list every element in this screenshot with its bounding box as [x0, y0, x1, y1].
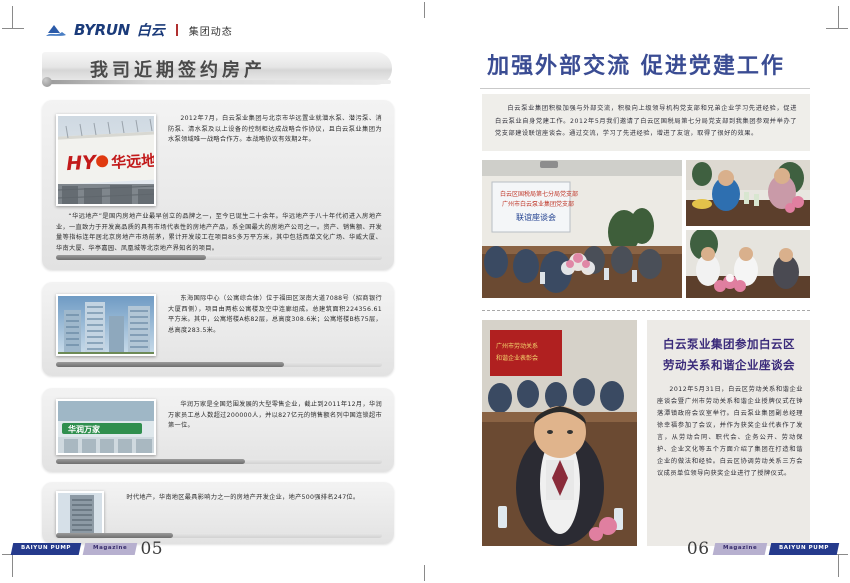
card-donghai-paragraph-1: 东海国际中心（公寓综合体）位于福田区深南大道7088号（招商银行大厦西侧），项目… [168, 294, 382, 336]
right-headline: 加强外部交流 促进党建工作 [440, 48, 832, 80]
footer-right: 06 Magazine BAIYUN PUMP [687, 539, 838, 559]
section-divider [482, 310, 810, 311]
crop-mark [838, 555, 839, 577]
right-lead-block: 白云泵业集团积极加强与外部交流，积极向上级领导机构党支部和兄弟企业学习先进经验，… [482, 94, 810, 151]
magazine-spread: BYRUN 白云 集团动态 我司近期签约房产 HY [0, 0, 850, 583]
footer-tag-secondary-right: Magazine [712, 543, 767, 555]
crop-mark [2, 28, 24, 29]
sub-body-text: 2012年5月31日，白云区劳动关系和谐企业座谈会暨广州市劳动关系和谐企业授牌仪… [657, 384, 803, 480]
card-huayuan-paragraph-1: 2012年7月，白云泵业集团与北京市华远置业就潜水泵、潜污泵、消防泵、清水泵及以… [168, 114, 382, 146]
svg-text:和谐企业表彰会: 和谐企业表彰会 [496, 354, 538, 362]
card-shidai-progress[interactable] [56, 533, 382, 538]
card-huayuan-paragraph-2: “华远地产”是国内房地产业最早创立的品牌之一，至今已诞生二十余年。华远地产于八十… [56, 212, 382, 254]
card-vanguard: 华润万家 华润万家是全国范围发展的大型零售企业，截止到2011年12月，华润万家… [42, 388, 394, 472]
section-title: 我司近期签约房产 [90, 56, 266, 82]
card-donghai: 东海国际中心（公寓综合体）位于福田区深南大道7088号（招商银行大厦西侧），项目… [42, 282, 394, 376]
photo-speaker-portrait: 广州市劳动关系 和谐企业表彰会 [482, 320, 637, 546]
card-donghai-text: 东海国际中心（公寓综合体）位于福田区深南大道7088号（招商银行大厦西侧），项目… [168, 294, 382, 336]
card-donghai-progress[interactable] [56, 362, 382, 367]
card-huayuan: HY 华远地产 [42, 100, 394, 270]
sub-headline-line-1: 白云泵业集团参加白云区 [655, 334, 803, 355]
left-page: BYRUN 白云 集团动态 我司近期签约房产 HY [24, 14, 414, 569]
brand-logo: BYRUN 白云 集团动态 [46, 20, 233, 40]
section-title-bullet [42, 77, 52, 87]
footer-tag-secondary-left: Magazine [83, 543, 138, 555]
card-huayuan-progress[interactable] [56, 255, 382, 260]
photo-meeting-two-men [686, 160, 810, 226]
photo-supermarket: 华润万家 [56, 399, 156, 455]
card-shidai: 时代地产，华南地区最具影响力之一的房地产开发企业，地产500强排名247位。 [42, 482, 394, 544]
photo-meeting-three-men [686, 230, 810, 298]
svg-text:华润万家: 华润万家 [68, 424, 101, 434]
labor-relations-block: 白云泵业集团参加白云区 劳动关系和谐企业座谈会 2012年5月31日，白云区劳动… [647, 320, 810, 546]
sub-body-block: 2012年5月31日，白云区劳动关系和谐企业座谈会暨广州市劳动关系和谐企业授牌仪… [657, 384, 803, 480]
section-title-rule [46, 80, 391, 84]
svg-text:广州市劳动关系: 广州市劳动关系 [496, 342, 538, 350]
card-vanguard-paragraph-1: 华润万家是全国范围发展的大型零售企业，截止到2011年12月，华润万家员工总人数… [168, 400, 382, 432]
right-lead-text: 白云泵业集团积极加强与外部交流，积极向上级领导机构党支部和兄弟企业学习先进经验，… [495, 103, 797, 141]
screen-line-3: 联谊座谈会 [516, 212, 556, 222]
card-huayuan-text-top: 2012年7月，白云泵业集团与北京市华远置业就潜水泵、潜污泵、消防泵、清水泵及以… [168, 114, 382, 146]
photo-billboard: HY 华远地产 [56, 114, 156, 206]
headline-rule [480, 88, 810, 89]
photo-tower-single [56, 491, 104, 535]
footer-tag-primary-right: BAIYUN PUMP [769, 543, 840, 555]
svg-text:华远地产: 华远地产 [111, 151, 156, 172]
crop-mark [838, 6, 839, 28]
photo-towers [56, 294, 156, 356]
sub-headline: 白云泵业集团参加白云区 劳动关系和谐企业座谈会 [655, 334, 803, 376]
footer-tag-primary-left: BAIYUN PUMP [11, 543, 82, 555]
crop-mark-center [424, 565, 425, 581]
page-number-right: 06 [687, 539, 710, 559]
photo-meeting-room-wide: 白云区国税局第七分局党支部 广州市白云泵业集团党支部 联谊座谈会 [482, 160, 682, 298]
svg-text:HY: HY [66, 152, 99, 176]
crop-mark-center [424, 2, 425, 18]
brand-subtitle: 集团动态 [189, 23, 233, 38]
card-vanguard-progress[interactable] [56, 459, 382, 464]
card-vanguard-text: 华润万家是全国范围发展的大型零售企业，截止到2011年12月，华润万家员工总人数… [168, 400, 382, 432]
screen-line-2: 广州市白云泵业集团党支部 [502, 200, 574, 208]
brand-logo-cn: 白云 [137, 20, 165, 40]
sub-headline-line-2: 劳动关系和谐企业座谈会 [655, 355, 803, 376]
card-shidai-text: 时代地产，华南地区最具影响力之一的房地产开发企业，地产500强排名247位。 [114, 493, 382, 504]
brand-logo-text: BYRUN [74, 21, 130, 39]
right-page: 加强外部交流 促进党建工作 白云泵业集团积极加强与外部交流，积极向上级领导机构党… [440, 14, 832, 569]
card-shidai-paragraph-1: 时代地产，华南地区最具影响力之一的房地产开发企业，地产500强排名247位。 [114, 493, 382, 504]
screen-line-1: 白云区国税局第七分局党支部 [500, 190, 578, 198]
crop-mark [12, 6, 13, 28]
footer-left: BAIYUN PUMP Magazine 05 [12, 539, 163, 559]
logo-divider [176, 24, 178, 36]
card-huayuan-text-bottom: “华远地产”是国内房地产业最早创立的品牌之一，至今已诞生二十余年。华远地产于八十… [56, 212, 382, 254]
page-number-left: 05 [140, 539, 163, 559]
mountain-wave-icon [46, 24, 68, 37]
